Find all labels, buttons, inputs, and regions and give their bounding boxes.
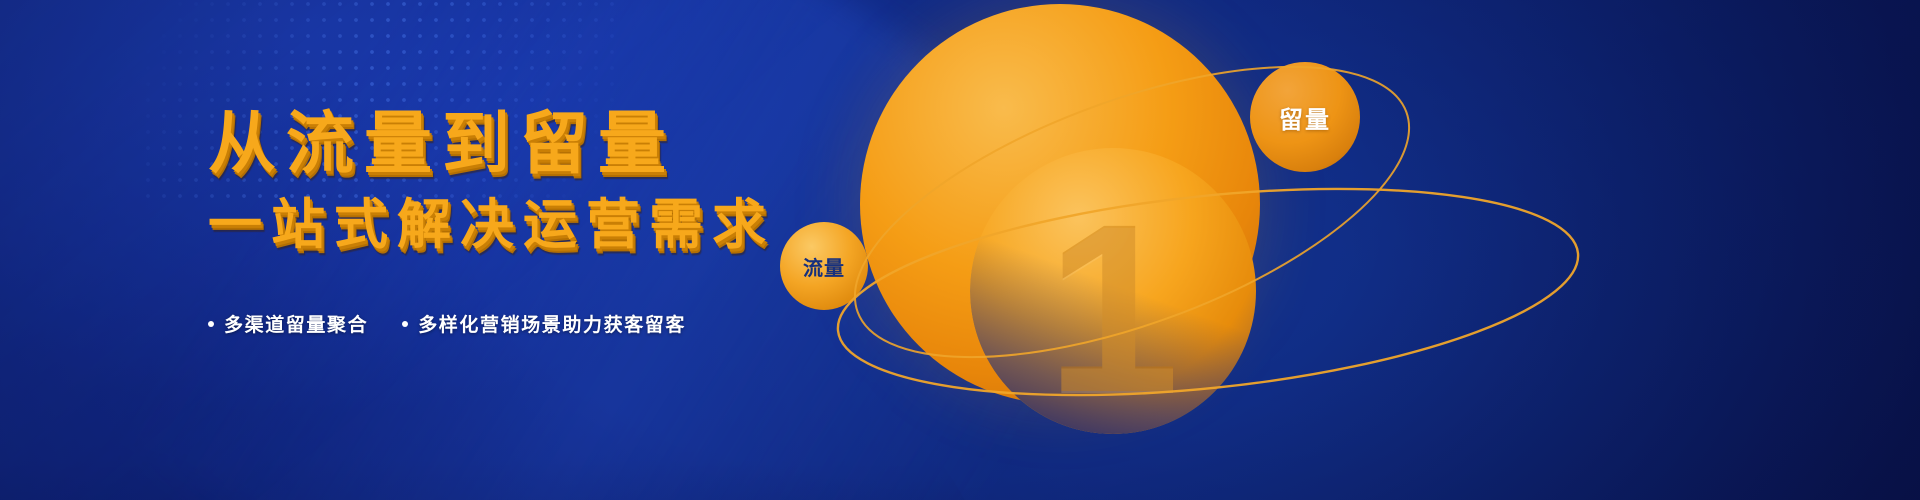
feature-bullet-2-label: 多样化营销场景助力获客留客 [418,310,686,337]
sphere-traffic-label: 流量 [803,252,845,281]
headline-block: 从流量到留量 一站式解决运营需求 [208,110,828,252]
feature-bullet-1: 多渠道留量聚合 [208,310,368,337]
promo-banner: 1 流量 留量 从流量到留量 一站式解决运营需求 多渠道留量聚合 多样化营销场景… [0,0,1920,500]
numeral-one: 1 [970,188,1256,428]
feature-bullet-1-label: 多渠道留量聚合 [224,310,368,337]
feature-bullet-2: 多样化营销场景助力获客留客 [402,310,686,337]
hero-graphic: 1 流量 留量 [740,0,1920,500]
bullet-dot-icon [208,321,214,327]
headline-line-1: 从流量到留量 [208,110,828,178]
feature-bullet-list: 多渠道留量聚合 多样化营销场景助力获客留客 [208,310,686,337]
sphere-retention: 留量 [1250,62,1360,172]
headline-line-2: 一站式解决运营需求 [208,198,828,252]
bullet-dot-icon [402,321,408,327]
sphere-medium: 1 [970,148,1256,434]
sphere-retention-label: 留量 [1279,100,1331,135]
